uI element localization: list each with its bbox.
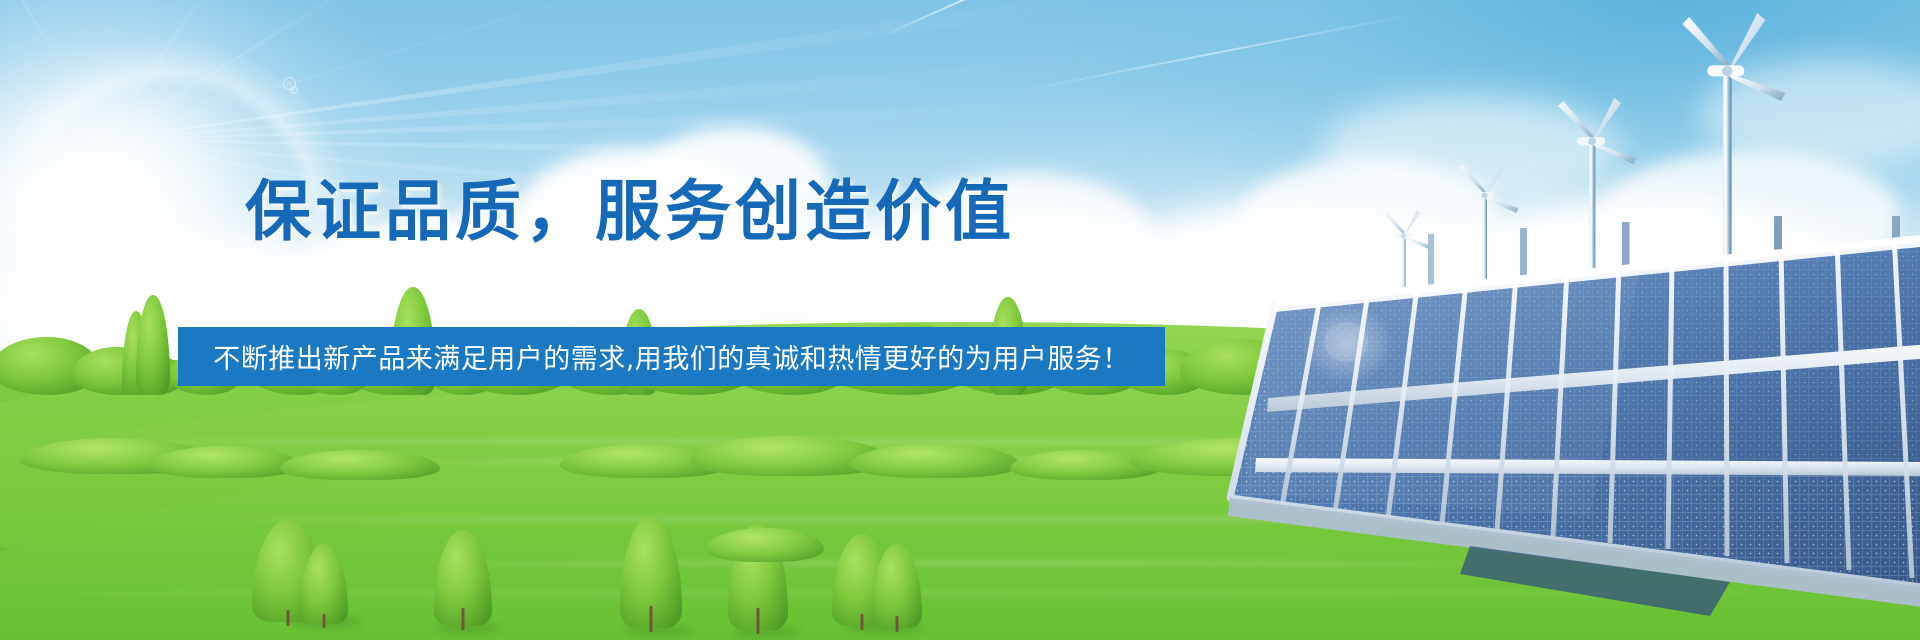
- shrub-cluster: [150, 446, 300, 478]
- tree-cypress: [136, 295, 170, 395]
- foreground-tree: [300, 544, 348, 624]
- hero-banner: 保证品质，服务创造价值 不断推出新产品来满足用户的需求,用我们的真诚和热情更好的…: [0, 0, 1920, 640]
- subtitle-text: 不断推出新产品来满足用户的需求,用我们的真诚和热情更好的为用户服务！: [213, 337, 1130, 376]
- foreground-shrub: [706, 528, 824, 562]
- solar-panel-surface: [1230, 236, 1920, 588]
- foreground-tree: [872, 544, 922, 628]
- page-title: 保证品质，服务创造价值: [0, 158, 1260, 254]
- lens-flare-speck: [290, 86, 298, 94]
- shrub-cluster: [850, 444, 1020, 478]
- foreground-tree: [434, 530, 492, 626]
- shrub-cluster: [280, 450, 440, 480]
- lens-flare-speck: [272, 116, 282, 126]
- subtitle-bar: 不断推出新产品来满足用户的需求,用我们的真诚和热情更好的为用户服务！: [178, 327, 1165, 386]
- solar-panel-array: [1170, 216, 1920, 640]
- foreground-tree: [620, 516, 682, 628]
